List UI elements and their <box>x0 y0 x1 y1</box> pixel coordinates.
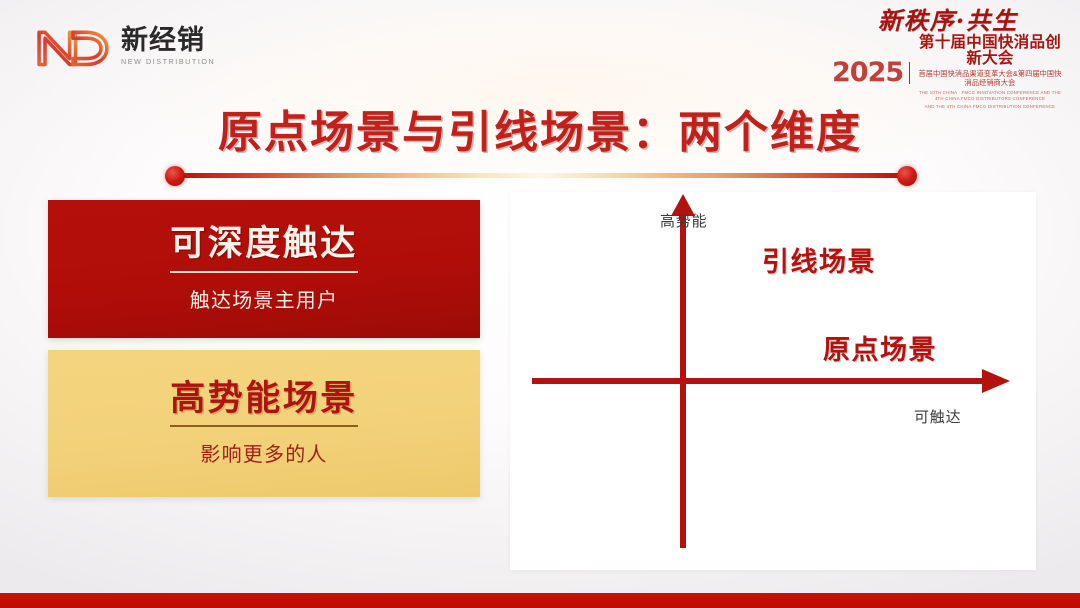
card-deep-reach: 可深度触达 触达场景主用户 <box>48 200 480 338</box>
conference-lockup: 新秩序·共生 2025 第十届中国快消品创新大会 首届中国快消品渠道变革大会&第… <box>832 8 1064 110</box>
annotation-fuse-scenario: 引线场景 <box>762 240 876 279</box>
conference-year: 2025 <box>832 59 903 86</box>
conference-sub-title: 首届中国快消品渠道变革大会&第四届中国快消品经销商大会 <box>918 69 1062 88</box>
card-high-potential: 高势能场景 影响更多的人 <box>48 350 480 497</box>
slide-canvas: 新经销 NEW DISTRIBUTION 新秩序·共生 2025 第十届中国快消… <box>0 0 1080 608</box>
footer-accent-bar <box>0 593 1080 608</box>
y-axis-label: 高势能 <box>660 210 707 231</box>
x-axis-label: 可触达 <box>914 406 961 427</box>
divider-dot-left <box>165 166 185 186</box>
x-axis-arrowhead-icon <box>982 369 1010 393</box>
card-deep-reach-subtitle: 触达场景主用户 <box>190 284 338 313</box>
card-deep-reach-heading: 可深度触达 <box>170 225 358 273</box>
page-title: 原点场景与引线场景：两个维度 <box>0 96 1080 160</box>
brand-name-cn: 新经销 <box>121 27 215 54</box>
quadrant-diagram-panel: 高势能 可触达 引线场景 原点场景 <box>510 192 1036 570</box>
brand-name-en: NEW DISTRIBUTION <box>121 58 215 65</box>
title-divider <box>165 166 917 186</box>
card-high-potential-heading: 高势能场景 <box>170 380 358 428</box>
card-high-potential-subtitle: 影响更多的人 <box>200 438 327 467</box>
conference-main-title: 第十届中国快消品创新大会 <box>916 35 1064 66</box>
divider-line <box>175 173 907 178</box>
nd-monogram-logo-icon <box>34 22 112 68</box>
conference-divider <box>909 62 910 84</box>
brand-text-block: 新经销 NEW DISTRIBUTION <box>121 25 215 65</box>
annotation-origin-scenario: 原点场景 <box>823 328 937 367</box>
brand-logo: 新经销 NEW DISTRIBUTION <box>34 22 215 68</box>
divider-dot-right <box>897 166 917 186</box>
conference-slogan: 新秩序·共生 <box>832 8 1064 33</box>
